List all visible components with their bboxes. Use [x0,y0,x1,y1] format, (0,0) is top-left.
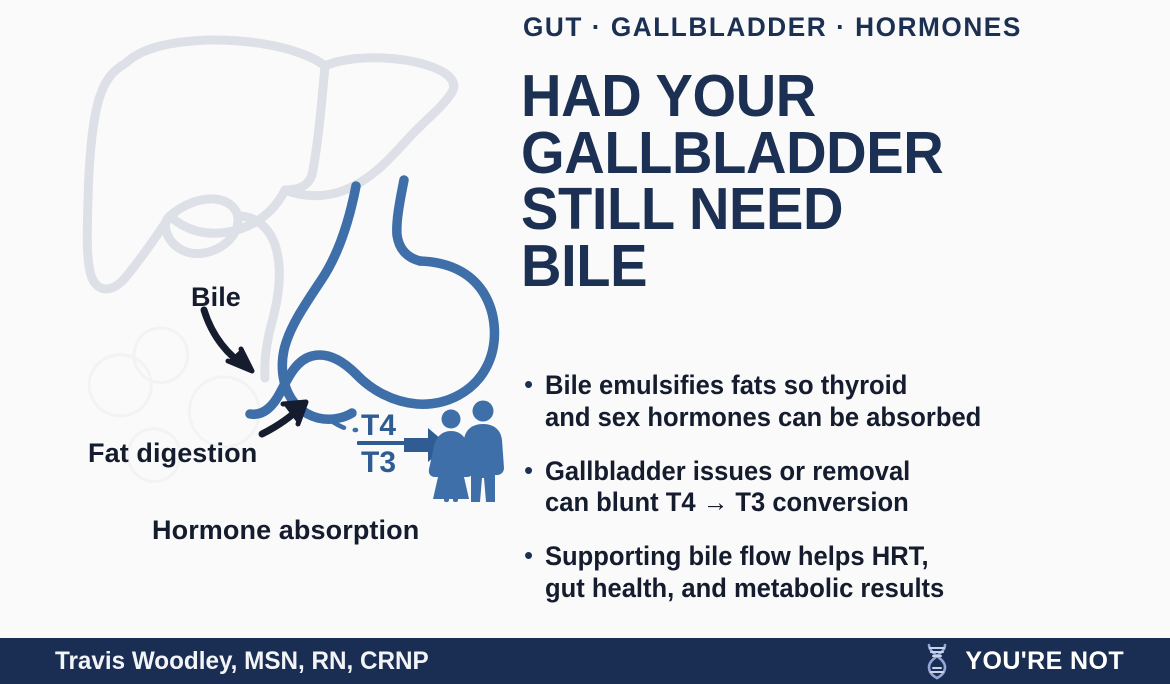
bullet-dot-icon: • [524,370,533,400]
t4-numerator: T4 [361,411,396,441]
t3-denominator: T3 [361,448,396,478]
list-item-text: Bile emulsifies fats so thyroid and sex … [545,370,981,434]
bile-arrow-icon [204,310,252,371]
label-bile: Bile [191,282,241,313]
illustration-panel: Bile Fat digestion Hormone absorption T4… [0,0,510,638]
headline-line: BILE [521,238,1129,295]
headline-line: STILL NEED [521,181,1129,238]
list-item: • Gallbladder issues or removal can blun… [524,456,1164,520]
duodenum-outline [282,186,356,419]
list-item: • Supporting bile flow helps HRT, gut he… [524,541,1164,605]
list-item-text: Supporting bile flow helps HRT, gut heal… [545,541,944,605]
dna-helix-icon [922,642,952,680]
label-fat-digestion: Fat digestion [88,438,257,469]
label-hormone-absorption: Hormone absorption [152,515,419,546]
footer-bar: Travis Woodley, MSN, RN, CRNP YOU'RE NOT [0,638,1170,684]
eyebrow-kicker: GUT · GALLBLADDER · HORMONES [523,12,1022,43]
page-title: HAD YOUR GALLBLADDER STILL NEED BILE [521,68,1129,295]
bullet-dot-icon: • [524,541,533,571]
infographic-page: Bile Fat digestion Hormone absorption T4… [0,0,1170,684]
benefits-list: • Bile emulsifies fats so thyroid and se… [524,370,1164,627]
brand-lockup: YOU'RE NOT [922,642,1124,680]
headline-line: HAD YOUR [521,68,1129,125]
brand-name: YOU'RE NOT [965,647,1124,676]
conversion-fraction-rule [357,441,409,445]
content-panel: GUT · GALLBLADDER · HORMONES HAD YOUR GA… [518,0,1170,638]
male-figure [462,401,504,503]
headline-line: GALLBLADDER [521,125,1129,182]
footer-author-name: Travis Woodley, MSN, RN, CRNP [55,647,429,676]
list-item: • Bile emulsifies fats so thyroid and se… [524,370,1164,434]
bullet-dot-icon: • [524,456,533,486]
list-item-text: Gallbladder issues or removal can blunt … [545,456,910,520]
